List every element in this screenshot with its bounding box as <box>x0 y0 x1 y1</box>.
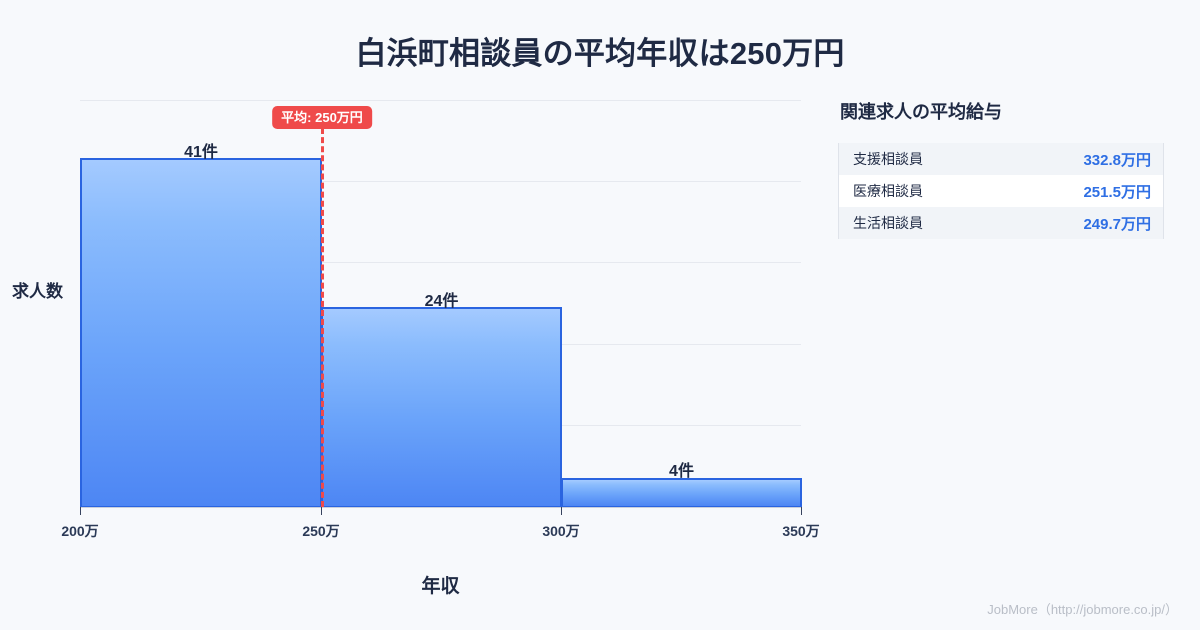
bar-value-label: 24件 <box>321 287 562 311</box>
side-panel-title: 関連求人の平均給与 <box>840 98 1178 124</box>
salary-amount: 251.5万円 <box>1083 181 1151 202</box>
histogram-chart: 41件 24件 4件 平均: 250万円 200万 250万 300万 350万… <box>0 0 830 630</box>
footer-watermark: JobMore（http://jobmore.co.jp/） <box>987 599 1178 618</box>
x-axis-label: 年収 <box>80 571 801 598</box>
bar-200-250[interactable] <box>80 158 322 508</box>
y-axis-label: 求人数 <box>12 277 63 302</box>
salary-job-name: 支援相談員 <box>853 149 923 169</box>
x-tick-label: 250万 <box>291 521 351 541</box>
bar-value-label: 41件 <box>80 138 322 162</box>
x-tick-label: 200万 <box>50 521 110 541</box>
x-tick <box>801 507 802 515</box>
x-tick-label: 300万 <box>531 521 591 541</box>
salary-job-name: 生活相談員 <box>853 213 923 233</box>
salary-amount: 249.7万円 <box>1083 213 1151 234</box>
x-tick <box>321 507 322 515</box>
table-row[interactable]: 生活相談員 249.7万円 <box>839 207 1163 239</box>
bar-300-350[interactable] <box>561 478 802 508</box>
table-row[interactable]: 支援相談員 332.8万円 <box>839 143 1163 175</box>
salary-table: 支援相談員 332.8万円 医療相談員 251.5万円 生活相談員 249.7万… <box>838 143 1164 239</box>
bar-value-label: 4件 <box>561 457 802 481</box>
table-row[interactable]: 医療相談員 251.5万円 <box>839 175 1163 207</box>
average-line <box>321 128 324 507</box>
salary-amount: 332.8万円 <box>1083 149 1151 170</box>
average-badge: 平均: 250万円 <box>272 106 372 129</box>
x-axis-line <box>80 507 801 508</box>
x-tick <box>561 507 562 515</box>
bar-250-300[interactable] <box>321 307 562 508</box>
salary-job-name: 医療相談員 <box>853 181 923 201</box>
x-tick-label: 350万 <box>771 521 831 541</box>
gridline <box>80 100 801 101</box>
related-salary-panel: 関連求人の平均給与 支援相談員 332.8万円 医療相談員 251.5万円 生活… <box>838 98 1178 239</box>
x-tick <box>80 507 81 515</box>
